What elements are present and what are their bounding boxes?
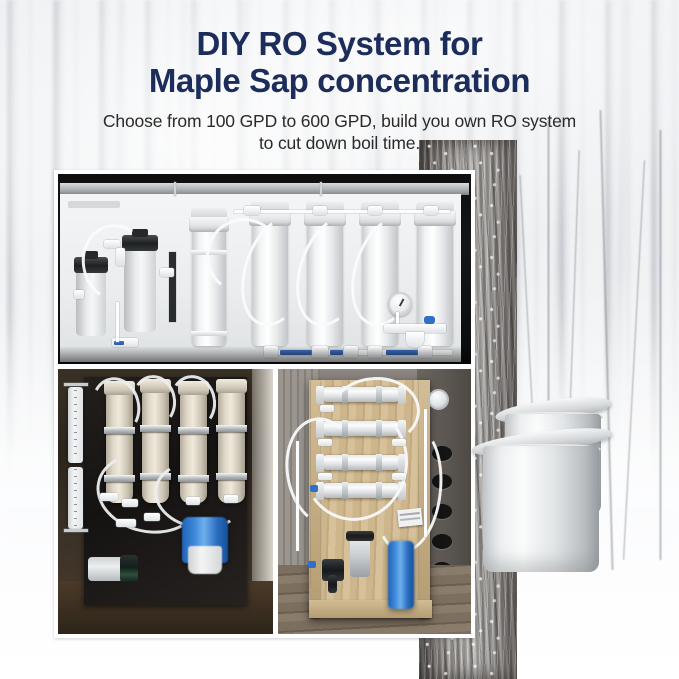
tee-fitting (100, 493, 118, 501)
sapling (623, 160, 646, 560)
booster-pump (350, 537, 370, 577)
title-line-1: DIY RO System for (196, 25, 482, 62)
feed-line (234, 210, 450, 213)
subtitle-line-2: to cut down boil time. (40, 132, 639, 154)
tee-fitting (224, 495, 238, 503)
label-tag (397, 508, 423, 527)
cabinet-hole (432, 534, 452, 549)
page-subtitle: Choose from 100 GPD to 600 GPD, build yo… (0, 110, 679, 155)
elbow-fitting (320, 405, 334, 412)
sapling (599, 110, 614, 570)
photo-bottom-shadow (58, 346, 471, 364)
wall-trim-right (252, 369, 274, 602)
filter-sump (188, 546, 221, 574)
elbow-fitting (318, 473, 332, 480)
elbow-fitting (318, 439, 332, 446)
tee-fitting (116, 519, 136, 527)
tubing (116, 302, 119, 342)
booster-pump (88, 557, 136, 581)
black-valve-stem (328, 575, 337, 593)
housing-ring (191, 331, 228, 336)
flow-meter-2 (68, 467, 83, 529)
photo-membrane-board-black (58, 369, 273, 634)
elbow-fitting (392, 439, 406, 446)
tubing (424, 409, 427, 537)
pump-motor-head (346, 531, 374, 541)
tee-fitting (144, 513, 160, 521)
subtitle-line-1: Choose from 100 GPD to 600 GPD, build yo… (103, 111, 576, 131)
photo-collage (54, 170, 475, 638)
blue-filter-housing (388, 541, 414, 609)
hero-header: DIY RO System for Maple Sap concentratio… (0, 26, 679, 155)
page-title: DIY RO System for Maple Sap concentratio… (0, 26, 679, 100)
membrane-end-cap (316, 386, 324, 404)
sapling (659, 130, 662, 560)
pressure-gauge (388, 292, 412, 316)
hero-banner: DIY RO System for Maple Sap concentratio… (0, 0, 679, 679)
flow-meter-1 (68, 387, 83, 463)
housing-cap (216, 379, 247, 393)
tee-fitting (122, 499, 138, 507)
elbow-fitting (74, 290, 84, 299)
blue-valve-knob (308, 561, 316, 568)
blue-valve-knob (310, 485, 318, 492)
elbow-fitting (244, 206, 260, 215)
bucket-body (483, 446, 599, 572)
riser-fitting (116, 248, 125, 266)
tee-fitting (186, 497, 200, 505)
pressure-gauge (428, 389, 449, 410)
title-line-2: Maple Sap concentration (26, 63, 653, 100)
elbow-fitting (160, 268, 174, 277)
sap-bucket-front (483, 432, 599, 582)
elbow-fitting (368, 206, 382, 215)
pump-bracket (169, 252, 176, 322)
meter-mount (64, 529, 88, 532)
tubing (296, 441, 299, 551)
elbow-fitting (424, 206, 438, 215)
shelf-post (174, 182, 176, 196)
mounting-clamp (216, 425, 248, 432)
blue-valve-knob (424, 316, 435, 324)
blue-filter-housing (182, 517, 228, 563)
shelf-post (320, 182, 322, 196)
meter-mount (64, 383, 88, 386)
elbow-fitting (104, 240, 120, 248)
elbow-fitting (313, 206, 327, 215)
photo-plywood-ro-rig (278, 369, 471, 634)
photo-ro-system-white-panel (58, 174, 471, 364)
elbow-fitting (392, 473, 406, 480)
